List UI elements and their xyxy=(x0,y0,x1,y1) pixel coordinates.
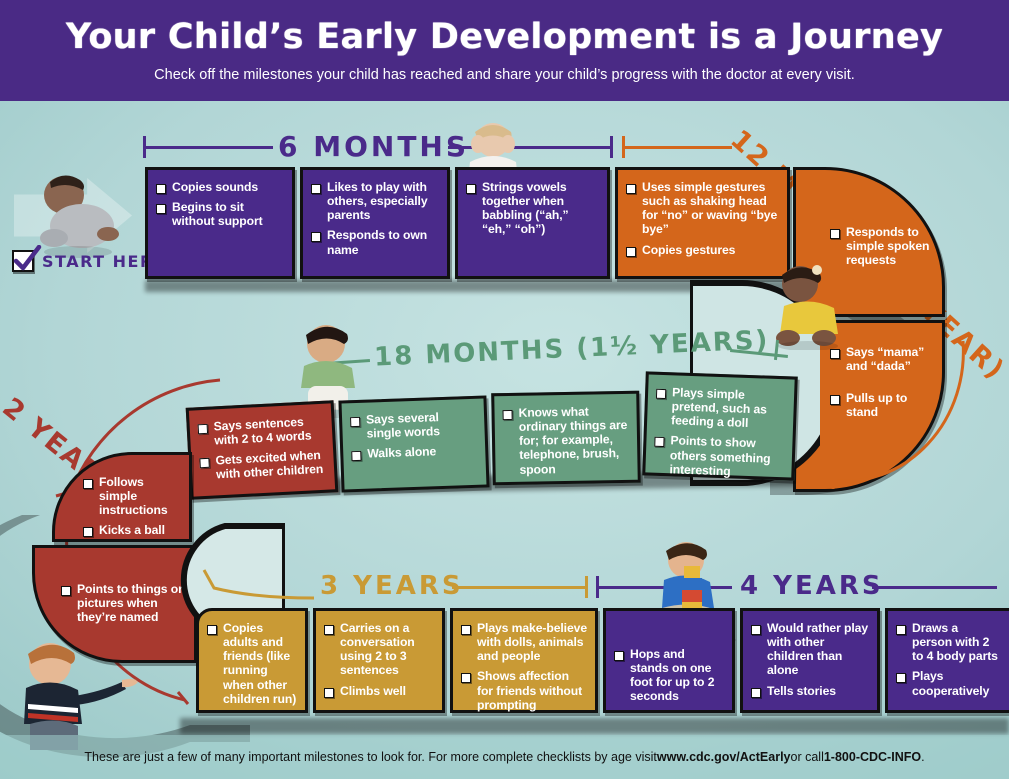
card-6-months-1[interactable]: Copies sounds Begins to sit without supp… xyxy=(145,167,295,279)
card-3-years-3[interactable]: Plays make-believe with dolls, animals a… xyxy=(450,608,598,713)
milestone-item[interactable]: Kicks a ball xyxy=(83,523,181,537)
milestone-text: Hops and stands on one foot for up to 2 … xyxy=(630,647,724,704)
milestone-text: Would rather play with other children th… xyxy=(767,621,869,678)
checkbox-icon[interactable] xyxy=(83,527,93,537)
milestone-item[interactable]: Follows simple instructions xyxy=(83,475,181,517)
milestone-text: Uses simple gestures such as shaking hea… xyxy=(642,180,779,237)
footer-url[interactable]: www.cdc.gov/ActEarly xyxy=(657,750,791,764)
checkbox-icon[interactable] xyxy=(199,458,210,469)
rule-12-months xyxy=(622,146,732,149)
start-checkbox[interactable] xyxy=(12,250,34,272)
checkbox-icon[interactable] xyxy=(350,417,360,427)
label-6-months: 6 MONTHS xyxy=(278,130,469,163)
checkbox-icon[interactable] xyxy=(896,625,906,635)
milestone-text: Points to things or pictures when they’r… xyxy=(77,582,186,624)
label-4-years: 4 YEARS xyxy=(740,571,884,601)
rule-6-months-left xyxy=(143,146,273,149)
milestone-text: Plays simple pretend, such as feeding a … xyxy=(671,385,786,431)
milestone-item[interactable]: Says several single words xyxy=(350,409,477,442)
checkbox-icon[interactable] xyxy=(503,410,513,420)
checkbox-icon[interactable] xyxy=(626,247,636,257)
card-18-months-1[interactable]: Says several single words Walks alone xyxy=(338,395,489,492)
milestone-item[interactable]: Would rather play with other children th… xyxy=(751,621,869,678)
milestone-text: Tells stories xyxy=(767,684,836,698)
milestone-text: Responds to simple spoken requests xyxy=(846,225,934,267)
milestone-item[interactable]: Shows affection for friends without prom… xyxy=(461,669,587,711)
milestone-text: Says several single words xyxy=(366,409,477,441)
milestone-text: Likes to play with others, especially pa… xyxy=(327,180,439,222)
checkbox-icon[interactable] xyxy=(830,229,840,239)
checkbox-icon[interactable] xyxy=(198,424,209,435)
checkbox-icon[interactable] xyxy=(626,184,636,194)
tick-3-to-4 xyxy=(585,576,588,598)
milestone-item[interactable]: Carries on a conversation using 2 to 3 s… xyxy=(324,621,434,678)
milestone-item[interactable]: Plays cooperatively xyxy=(896,669,1001,697)
milestone-item[interactable]: Climbs well xyxy=(324,684,434,698)
card-4-years-3[interactable]: Draws a person with 2 to 4 body parts Pl… xyxy=(885,608,1009,713)
milestone-item[interactable]: Responds to own name xyxy=(311,228,439,256)
checkbox-icon[interactable] xyxy=(207,625,217,635)
page-header: Your Child’s Early Development is a Jour… xyxy=(0,0,1009,101)
page-title: Your Child’s Early Development is a Jour… xyxy=(0,17,1009,57)
milestone-text: Points to show others something interest… xyxy=(669,434,784,480)
milestone-text: Draws a person with 2 to 4 body parts xyxy=(912,621,1001,663)
start-arrow-graphic xyxy=(14,178,132,253)
milestone-item[interactable]: Gets excited when with other children xyxy=(199,448,326,483)
milestone-text: Responds to own name xyxy=(327,228,439,256)
start-here-marker[interactable]: START HERE xyxy=(12,250,166,272)
card-6-months-2[interactable]: Likes to play with others, especially pa… xyxy=(300,167,450,279)
milestone-text: Says sentences with 2 to 4 words xyxy=(213,414,324,448)
card-12-months-2[interactable]: Responds to simple spoken requests xyxy=(793,167,945,317)
card-4-years-1[interactable]: Hops and stands on one foot for up to 2 … xyxy=(603,608,735,713)
card-2-years-3[interactable]: Points to things or pictures when they’r… xyxy=(32,545,197,663)
milestone-text: Climbs well xyxy=(340,684,406,698)
milestone-text: Copies gestures xyxy=(642,243,735,257)
checkbox-icon[interactable] xyxy=(351,451,361,461)
milestone-text: Follows simple instructions xyxy=(99,475,181,517)
card-4-years-2[interactable]: Would rather play with other children th… xyxy=(740,608,880,713)
milestone-text: Carries on a conversation using 2 to 3 s… xyxy=(340,621,434,678)
tick-6-to-12 xyxy=(610,136,613,158)
tick-start xyxy=(143,136,146,158)
checkbox-icon[interactable] xyxy=(324,688,334,698)
milestone-text: Plays make-believe with dolls, animals a… xyxy=(477,621,587,663)
checkbox-icon[interactable] xyxy=(83,479,93,489)
milestone-item[interactable]: Tells stories xyxy=(751,684,869,698)
checkbox-icon[interactable] xyxy=(830,395,840,405)
milestone-item[interactable]: Knows what ordinary things are for; for … xyxy=(502,404,629,477)
footer-note: These are just a few of many important m… xyxy=(0,735,1009,779)
milestone-text: Strings vowels together when babbling (“… xyxy=(482,180,599,237)
checkbox-icon[interactable] xyxy=(61,586,71,596)
milestone-text: Says “mama” and “dada” xyxy=(846,345,934,373)
milestone-item[interactable]: Pulls up to stand xyxy=(830,391,934,419)
checkbox-icon[interactable] xyxy=(614,651,624,661)
checkbox-icon[interactable] xyxy=(324,625,334,635)
milestone-item[interactable]: Points to show others something interest… xyxy=(653,433,784,480)
checkbox-icon[interactable] xyxy=(466,184,476,194)
rule-4-years-right xyxy=(872,586,997,589)
card-3-years-1[interactable]: Copies adults and friends (like running … xyxy=(196,608,308,713)
card-3-years-2[interactable]: Carries on a conversation using 2 to 3 s… xyxy=(313,608,445,713)
milestone-item[interactable]: Draws a person with 2 to 4 body parts xyxy=(896,621,1001,663)
milestone-item[interactable]: Plays simple pretend, such as feeding a … xyxy=(655,385,786,432)
checkbox-icon[interactable] xyxy=(830,349,840,359)
milestone-text: Kicks a ball xyxy=(99,523,165,537)
infographic-canvas: Your Child’s Early Development is a Jour… xyxy=(0,0,1009,779)
card-12-months-3[interactable]: Says “mama” and “dada” Pulls up to stand xyxy=(793,320,945,492)
milestone-item[interactable]: Says “mama” and “dada” xyxy=(830,345,934,373)
milestone-text: Knows what ordinary things are for; for … xyxy=(518,404,629,477)
milestone-item[interactable]: Likes to play with others, especially pa… xyxy=(311,180,439,222)
milestone-item[interactable]: Plays make-believe with dolls, animals a… xyxy=(461,621,587,663)
milestone-item[interactable]: Copies sounds xyxy=(156,180,284,194)
milestone-item[interactable]: Walks alone xyxy=(351,443,477,462)
milestone-text: Walks alone xyxy=(367,445,436,462)
card-6-months-3[interactable]: Strings vowels together when babbling (“… xyxy=(455,167,610,279)
checkbox-icon[interactable] xyxy=(461,625,471,635)
checkbox-icon[interactable] xyxy=(656,389,666,399)
checkbox-icon[interactable] xyxy=(654,437,664,447)
milestone-text: Plays cooperatively xyxy=(912,669,1001,697)
milestone-item[interactable]: Hops and stands on one foot for up to 2 … xyxy=(614,647,724,704)
rule-4-years-left xyxy=(596,586,732,589)
checkbox-icon[interactable] xyxy=(751,625,761,635)
label-18-months: 18 MONTHS (1½ YEARS) xyxy=(374,325,770,372)
milestone-text: Shows affection for friends without prom… xyxy=(477,669,587,711)
page-subtitle: Check off the milestones your child has … xyxy=(0,67,1009,83)
footer-text-after: . xyxy=(921,750,924,764)
card-18-months-2[interactable]: Knows what ordinary things are for; for … xyxy=(491,391,641,486)
checkbox-icon[interactable] xyxy=(156,204,166,214)
rule-6-months-right xyxy=(448,146,613,149)
card-2-years-1[interactable]: Says sentences with 2 to 4 words Gets ex… xyxy=(186,400,339,500)
checkbox-icon[interactable] xyxy=(311,184,321,194)
milestone-text: Gets excited when with other children xyxy=(215,448,326,482)
milestone-item[interactable]: Points to things or pictures when they’r… xyxy=(61,582,186,624)
checkbox-icon[interactable] xyxy=(461,673,471,683)
label-3-years: 3 YEARS xyxy=(320,571,464,601)
card-18-months-3[interactable]: Plays simple pretend, such as feeding a … xyxy=(642,371,798,480)
milestone-item[interactable]: Says sentences with 2 to 4 words xyxy=(197,414,324,449)
milestone-item[interactable]: Copies gestures xyxy=(626,243,779,257)
checkbox-icon[interactable] xyxy=(311,232,321,242)
milestone-text: Pulls up to stand xyxy=(846,391,934,419)
checkbox-icon[interactable] xyxy=(896,673,906,683)
footer-phone[interactable]: 1-800-CDC-INFO xyxy=(824,750,921,764)
checkbox-icon[interactable] xyxy=(156,184,166,194)
milestone-text: Copies adults and friends (like running … xyxy=(223,621,297,706)
milestone-text: Copies sounds xyxy=(172,180,258,194)
rule-3-years-right xyxy=(452,586,587,589)
milestone-item[interactable]: Strings vowels together when babbling (“… xyxy=(466,180,599,237)
milestone-item[interactable]: Begins to sit without support xyxy=(156,200,284,228)
milestone-item[interactable]: Copies adults and friends (like running … xyxy=(207,621,297,706)
milestone-item[interactable]: Responds to simple spoken requests xyxy=(830,225,934,267)
footer-text-before: These are just a few of many important m… xyxy=(84,750,656,764)
rule-18-months-left xyxy=(312,359,370,366)
milestone-text: Begins to sit without support xyxy=(172,200,284,228)
checkbox-icon[interactable] xyxy=(751,688,761,698)
milestone-item[interactable]: Uses simple gestures such as shaking hea… xyxy=(626,180,779,237)
bracket-3-years-left xyxy=(196,566,316,608)
footer-text-middle: or call xyxy=(791,750,824,764)
card-12-months-1[interactable]: Uses simple gestures such as shaking hea… xyxy=(615,167,790,279)
